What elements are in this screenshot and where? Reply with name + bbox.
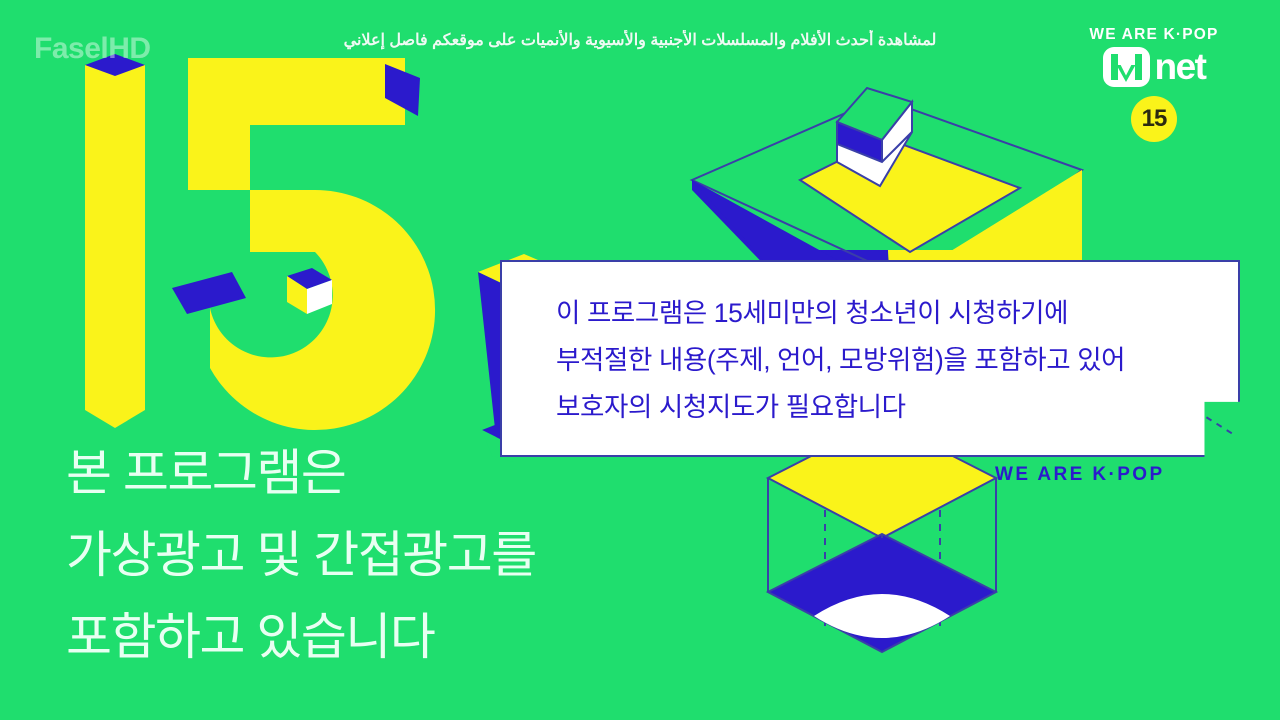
mnet-logo: net	[1054, 47, 1254, 87]
broadcast-rating-card: 이 프로그램은 15세미만의 청소년이 시청하기에 부적절한 내용(주제, 언어…	[0, 0, 1280, 720]
mnet-m-icon	[1103, 47, 1150, 87]
numeral-five-top-bar	[188, 58, 405, 190]
mnet-brand-block: WE ARE K·POP net 15	[1054, 26, 1254, 142]
numeral-one-body	[85, 65, 145, 428]
numeral-five-blue-diamond	[172, 272, 246, 314]
floating-cube-small	[287, 268, 332, 314]
age-rating-badge: 15	[1131, 96, 1177, 142]
kpop-wordmark: WE ARE K·POP	[995, 464, 1165, 486]
bubble-message-text: 이 프로그램은 15세미만의 청소년이 시청하기에 부적절한 내용(주제, 언어…	[556, 290, 1216, 431]
virtual-ad-disclosure-text: 본 프로그램은 가상광고 및 간접광고를 포함하고 있습니다	[66, 432, 706, 678]
rating-numeral-15-artwork	[60, 40, 480, 440]
numeral-five-bowl	[210, 190, 435, 430]
brand-tagline: WE ARE K·POP	[1054, 26, 1254, 44]
mnet-wordmark: net	[1155, 48, 1206, 86]
